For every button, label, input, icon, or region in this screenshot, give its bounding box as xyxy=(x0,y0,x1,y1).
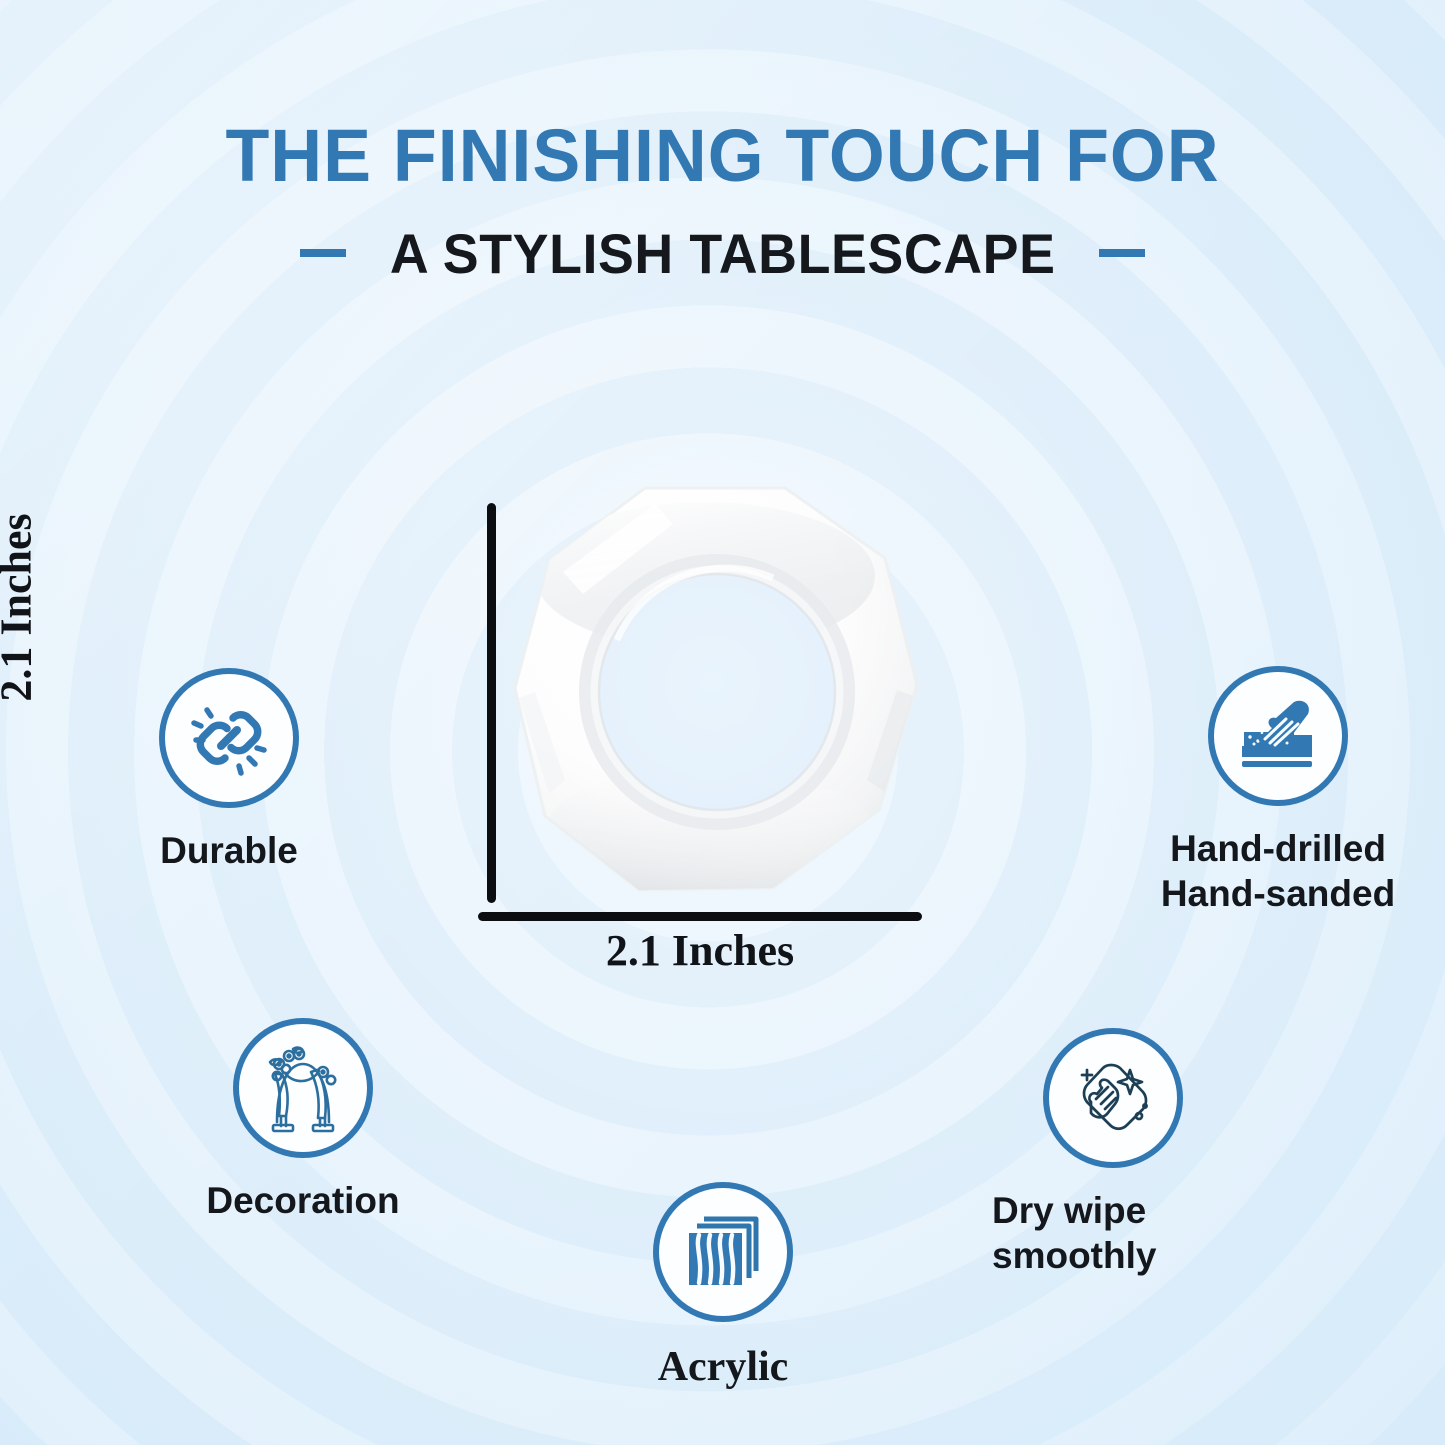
dimension-label-height: 2.1 Inches xyxy=(0,478,42,738)
dash-right-icon xyxy=(1099,249,1145,257)
feature-dry-wipe-badge xyxy=(1043,1028,1183,1168)
feature-dry-wipe-label: Dry wipe smoothly xyxy=(988,1188,1238,1278)
feature-decoration-label: Decoration xyxy=(178,1178,428,1223)
headline-primary: THE FINISHING TOUCH FOR xyxy=(22,118,1424,195)
headline-secondary-row: A STYLISH TABLESCAPE xyxy=(0,221,1445,286)
feature-hand-finished-badge xyxy=(1208,666,1348,806)
feature-decoration-badge xyxy=(233,1018,373,1158)
feature-durable-label: Durable xyxy=(104,828,354,873)
dimension-label-width: 2.1 Inches xyxy=(478,925,922,976)
floral-arch-icon xyxy=(255,1040,351,1136)
feature-acrylic[interactable]: Acrylic xyxy=(628,1182,818,1393)
chain-link-icon xyxy=(183,692,275,784)
dash-left-icon xyxy=(300,249,346,257)
feature-durable-badge xyxy=(159,668,299,808)
feature-hand-finished[interactable]: Hand-drilled Hand-sanded xyxy=(1128,666,1428,916)
headline-secondary: A STYLISH TABLESCAPE xyxy=(390,221,1056,286)
dimension-line-horizontal xyxy=(478,912,922,921)
feature-dry-wipe[interactable]: Dry wipe smoothly xyxy=(988,1028,1238,1278)
infographic-canvas: THE FINISHING TOUCH FOR A STYLISH TABLES… xyxy=(0,0,1445,1445)
stacked-panels-icon xyxy=(680,1209,766,1295)
product-napkin-ring-image xyxy=(505,480,925,900)
hand-sanding-icon xyxy=(1232,692,1324,780)
feature-acrylic-badge xyxy=(653,1182,793,1322)
headline-block: THE FINISHING TOUCH FOR A STYLISH TABLES… xyxy=(0,118,1445,286)
feature-acrylic-label: Acrylic xyxy=(628,1342,818,1393)
feature-decoration[interactable]: Decoration xyxy=(178,1018,428,1223)
feature-durable[interactable]: Durable xyxy=(104,668,354,873)
feature-hand-finished-label: Hand-drilled Hand-sanded xyxy=(1128,826,1428,916)
hand-wiping-cloth-icon xyxy=(1067,1052,1159,1144)
dimension-line-vertical xyxy=(487,503,496,903)
